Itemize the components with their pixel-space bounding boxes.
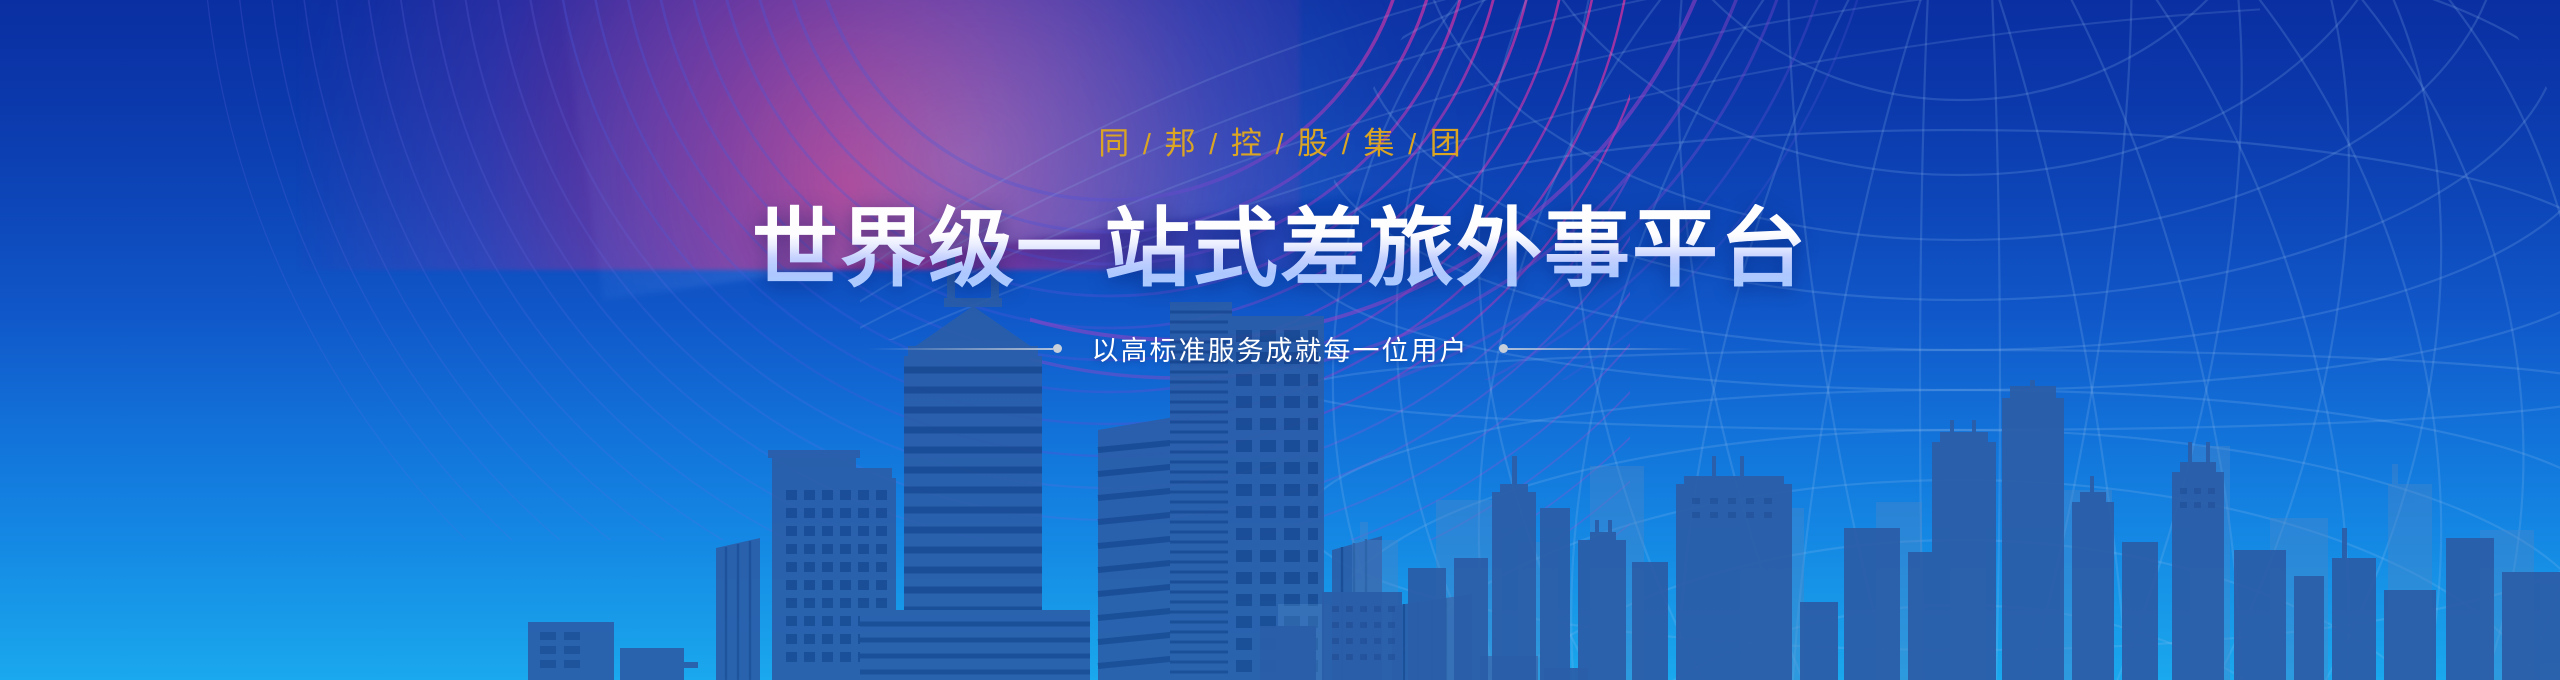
decor-dot-left <box>1053 344 1062 353</box>
city-skyline-silhouette <box>1260 380 2560 680</box>
tagline-decor-right <box>1499 344 1694 353</box>
eyebrow-char-3: 股 <box>1297 126 1329 161</box>
decor-line-left <box>867 348 1053 350</box>
banner-eyebrow: 同 / 邦 / 控 / 股 / 集 / 团 <box>0 128 2560 160</box>
tagline-row: 以高标准服务成就每一位用户 <box>0 329 2560 368</box>
eyebrow-separator-4: / <box>1405 129 1420 161</box>
banner-content: 同 / 邦 / 控 / 股 / 集 / 团 世界级一站式差旅外事平台 以高标准服… <box>0 0 2560 368</box>
page-subtitle: 以高标准服务成就每一位用户 <box>1062 329 1499 368</box>
eyebrow-char-1: 邦 <box>1165 126 1197 161</box>
eyebrow-separator-1: / <box>1206 129 1221 161</box>
tagline-decor-left <box>867 344 1062 353</box>
page-title: 世界级一站式差旅外事平台 <box>752 204 1808 295</box>
eyebrow-char-4: 集 <box>1363 126 1395 161</box>
eyebrow-separator-0: / <box>1140 129 1155 161</box>
eyebrow-char-0: 同 <box>1098 126 1130 161</box>
decor-line-right <box>1508 348 1694 350</box>
eyebrow-separator-2: / <box>1272 129 1287 161</box>
hero-banner: 同 / 邦 / 控 / 股 / 集 / 团 世界级一站式差旅外事平台 以高标准服… <box>0 0 2560 680</box>
eyebrow-char-5: 团 <box>1430 126 1462 161</box>
eyebrow-char-2: 控 <box>1231 126 1263 161</box>
eyebrow-separator-3: / <box>1339 129 1354 161</box>
decor-dot-right <box>1499 344 1508 353</box>
